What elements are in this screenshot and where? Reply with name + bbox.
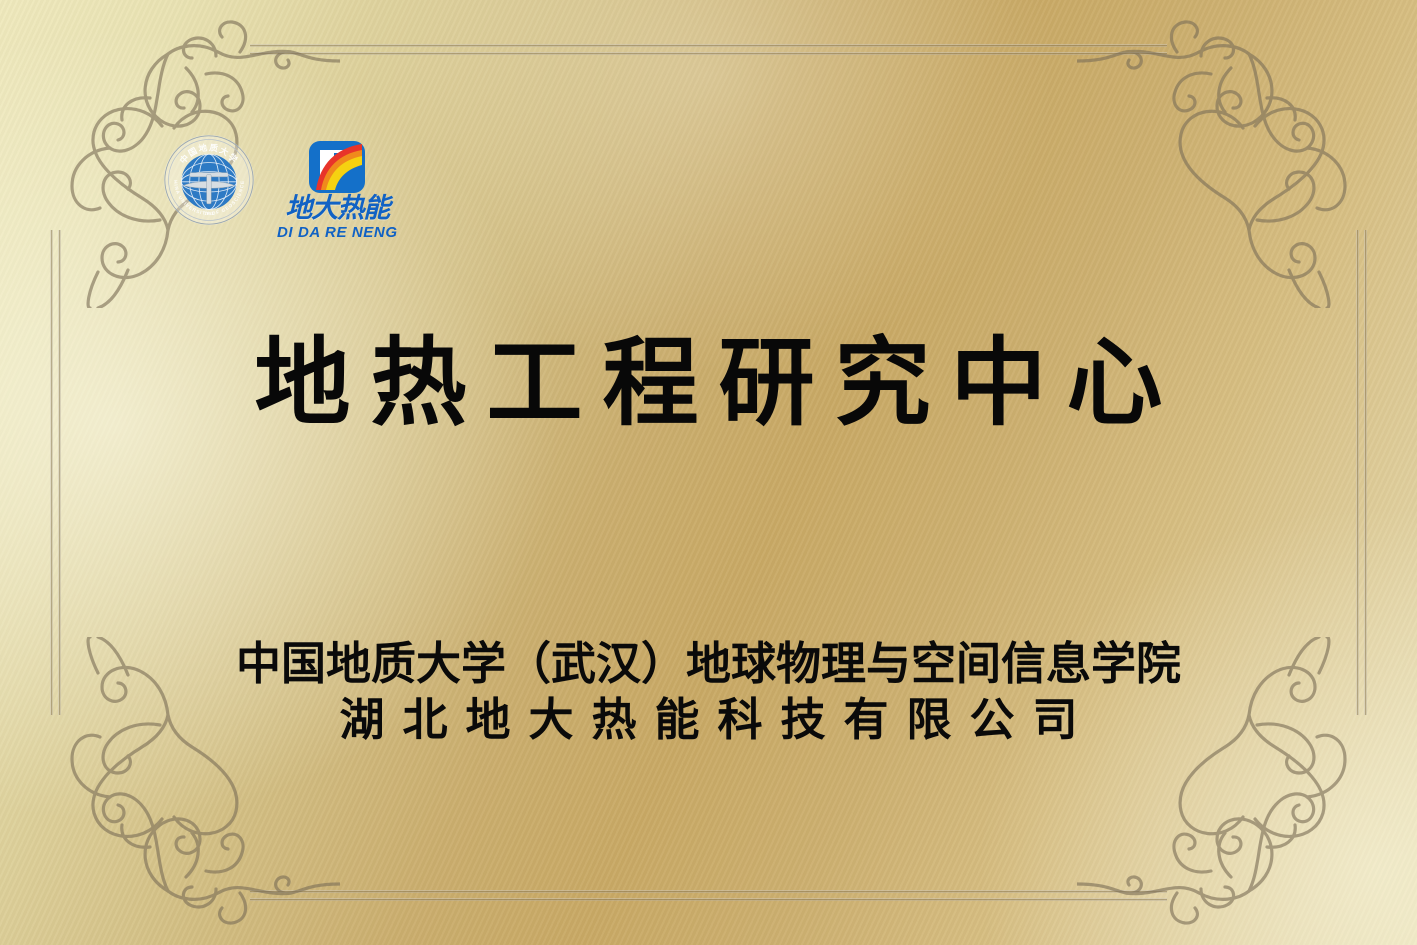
certificate-plaque: 中国地质大学 CHINA UNIVERSITY OF GEOSCIENCES 1… [0,0,1417,945]
frame-top-outer-line [250,44,1167,47]
frame-top-inner-line [250,52,1167,55]
subtitle-block: 中国地质大学（武汉）地球物理与空间信息学院 湖北地大热能科技有限公司 [0,637,1417,751]
frame-bottom-outer-line [250,898,1167,901]
company-logo: 地大热能 DI DA RE NENG [277,140,398,240]
corner-ornament-top-right [1077,8,1407,308]
didareneng-mark-icon [308,140,366,194]
subtitle-company: 湖北地大热能科技有限公司 [0,690,1417,751]
university-seal: 中国地质大学 CHINA UNIVERSITY OF GEOSCIENCES 1… [163,134,255,226]
subtitle-institute: 中国地质大学（武汉）地球物理与空间信息学院 [0,637,1417,690]
frame-bottom-inner-line [250,890,1167,893]
seal-founded-year: 1952 [204,211,214,216]
page-title: 地热工程研究中心 [0,330,1417,438]
company-name-en: DI DA RE NENG [277,225,398,240]
company-name-cn: 地大热能 [285,195,389,222]
logo-row: 中国地质大学 CHINA UNIVERSITY OF GEOSCIENCES 1… [163,134,398,240]
